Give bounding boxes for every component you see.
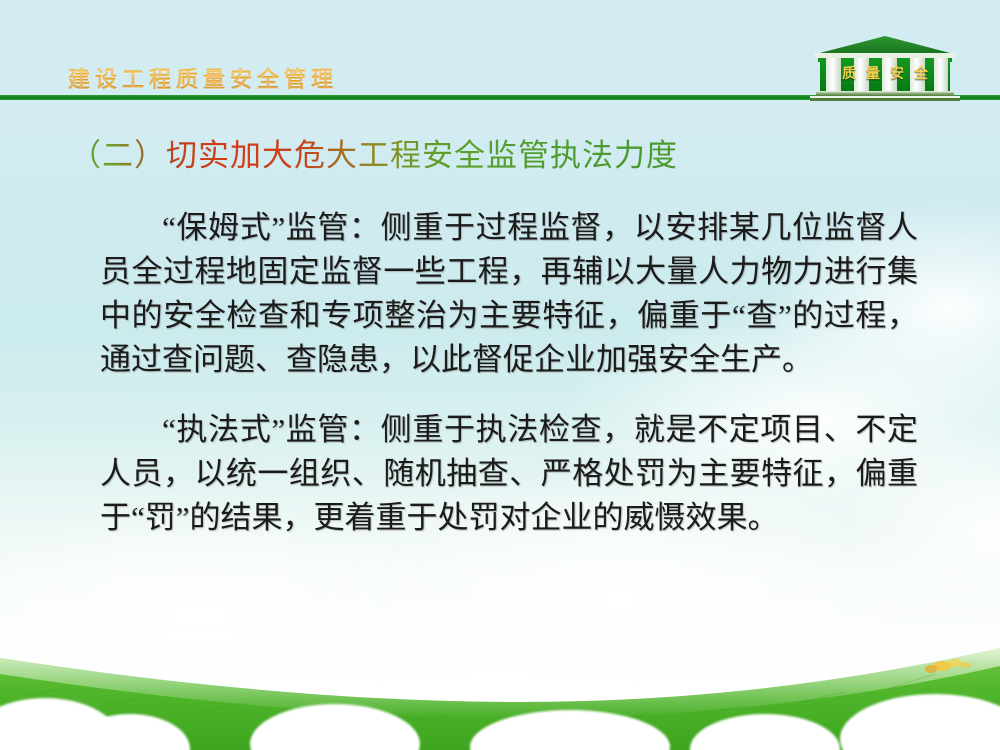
presentation-slide: 建设工程质量安全管理 xyxy=(0,0,1000,750)
body-paragraph: “执法式”监管：侧重于执法检查，就是不定项目、不定人员，以统一组织、随机抽查、严… xyxy=(100,408,918,540)
temple-building-icon: 质量安全 xyxy=(806,34,964,104)
header-title: 建设工程质量安全管理 xyxy=(68,62,338,94)
body-paragraph: “保姆式”监管：侧重于过程监督，以安排某几位监督人员全过程地固定监督一些工程，再… xyxy=(100,206,918,382)
slide-body: “保姆式”监管：侧重于过程监督，以安排某几位监督人员全过程地固定监督一些工程，再… xyxy=(100,206,918,540)
slide-heading: （二）切实加大危大工程安全监管执法力度 xyxy=(70,130,678,175)
grass-hill-decoration xyxy=(0,610,1000,750)
